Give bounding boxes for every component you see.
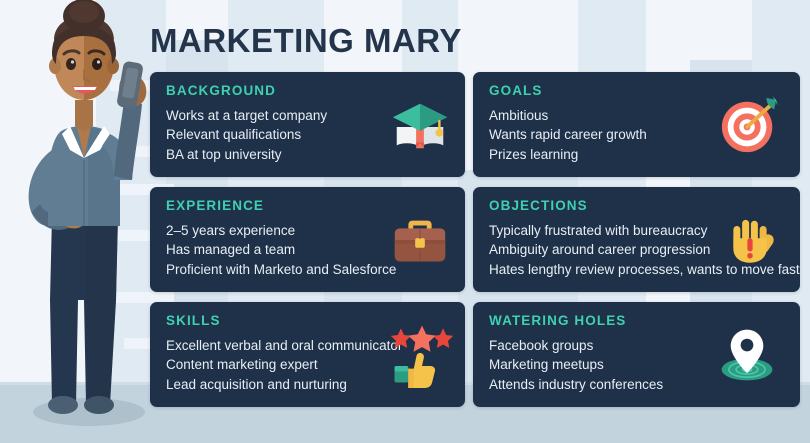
card-heading: GOALS: [489, 84, 786, 99]
card-heading: WATERING HOLES: [489, 314, 786, 329]
card-objections[interactable]: OBJECTIONS Typically frustrated with bur…: [473, 187, 800, 292]
card-line: Ambiguity around career progression: [489, 240, 786, 260]
card-line: 2–5 years experience: [166, 221, 451, 241]
card-watering-holes[interactable]: WATERING HOLES Facebook groups Marketing…: [473, 302, 800, 407]
card-heading: OBJECTIONS: [489, 199, 786, 214]
card-line: Excellent verbal and oral communicator: [166, 336, 451, 356]
card-line: Prizes learning: [489, 145, 786, 165]
card-line: Hates lengthy review processes, wants to…: [489, 260, 786, 280]
card-line: Proficient with Marketo and Salesforce: [166, 260, 451, 280]
card-line: Typically frustrated with bureaucracy: [489, 221, 786, 241]
card-line: Relevant qualifications: [166, 125, 451, 145]
card-line: Attends industry conferences: [489, 375, 786, 395]
card-line: Ambitious: [489, 106, 786, 126]
persona-infographic: MARKETING MARY BACKGROUND Works at a tar…: [0, 0, 810, 443]
card-experience[interactable]: EXPERIENCE 2–5 years experience Has mana…: [150, 187, 465, 292]
card-skills[interactable]: SKILLS Excellent verbal and oral communi…: [150, 302, 465, 407]
card-heading: EXPERIENCE: [166, 199, 451, 214]
page-title: MARKETING MARY: [150, 22, 462, 60]
card-line: Facebook groups: [489, 336, 786, 356]
card-heading: BACKGROUND: [166, 84, 451, 99]
card-line: Marketing meetups: [489, 355, 786, 375]
card-line: Works at a target company: [166, 106, 451, 126]
card-line: Has managed a team: [166, 240, 451, 260]
card-line: Content marketing expert: [166, 355, 451, 375]
card-heading: SKILLS: [166, 314, 451, 329]
card-background[interactable]: BACKGROUND Works at a target company Rel…: [150, 72, 465, 177]
card-goals[interactable]: GOALS Ambitious Wants rapid career growt…: [473, 72, 800, 177]
card-line: BA at top university: [166, 145, 451, 165]
card-line: Lead acquisition and nurturing: [166, 375, 451, 395]
card-line: Wants rapid career growth: [489, 125, 786, 145]
